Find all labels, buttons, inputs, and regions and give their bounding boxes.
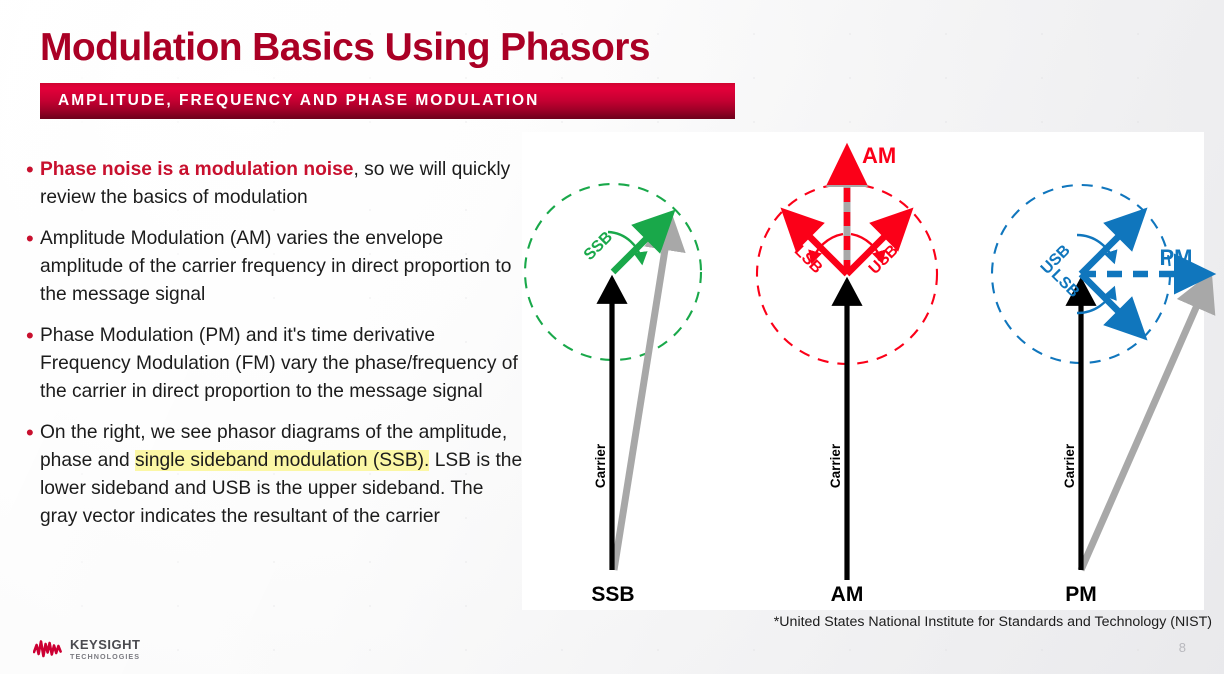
pm-carrier-label: Carrier [1062,443,1077,488]
ssb-phasor-group: SSB Carrier SSB [525,184,701,606]
am-top-label: AM [862,143,896,168]
keysight-waveform-icon [33,639,63,659]
ssb-resultant-vector [614,218,670,570]
pm-lsb-vector [1081,274,1141,334]
pm-side-label: PM [1160,245,1193,270]
slide: Modulation Basics Using Phasors AMPLITUD… [0,0,1224,674]
ssb-caption: SSB [591,583,634,606]
pm-phasor-group: USB LSB PM Carrier PM [992,185,1209,606]
pm-resultant-vector [1081,278,1209,570]
page-number: 8 [1179,640,1186,655]
am-carrier-label: Carrier [828,443,843,488]
pm-usb-vector [1081,214,1141,274]
ssb-vector-label: SSB [581,229,616,264]
pm-caption: PM [1065,583,1097,606]
keysight-logo: KEYSIGHT TECHNOLOGIES [33,638,140,660]
keysight-logo-name: KEYSIGHT [70,638,140,651]
footnote: *United States National Institute for St… [522,614,1220,630]
ssb-carrier-label: Carrier [593,443,608,488]
am-phasor-group: LSB USB AM Carrier AM [757,143,937,606]
phasor-diagrams-svg: SSB Carrier SSB LSB USB AM Carrier AM [0,0,1224,674]
am-caption: AM [831,583,864,606]
keysight-logo-sub: TECHNOLOGIES [70,653,140,660]
keysight-logo-text: KEYSIGHT TECHNOLOGIES [70,638,140,660]
